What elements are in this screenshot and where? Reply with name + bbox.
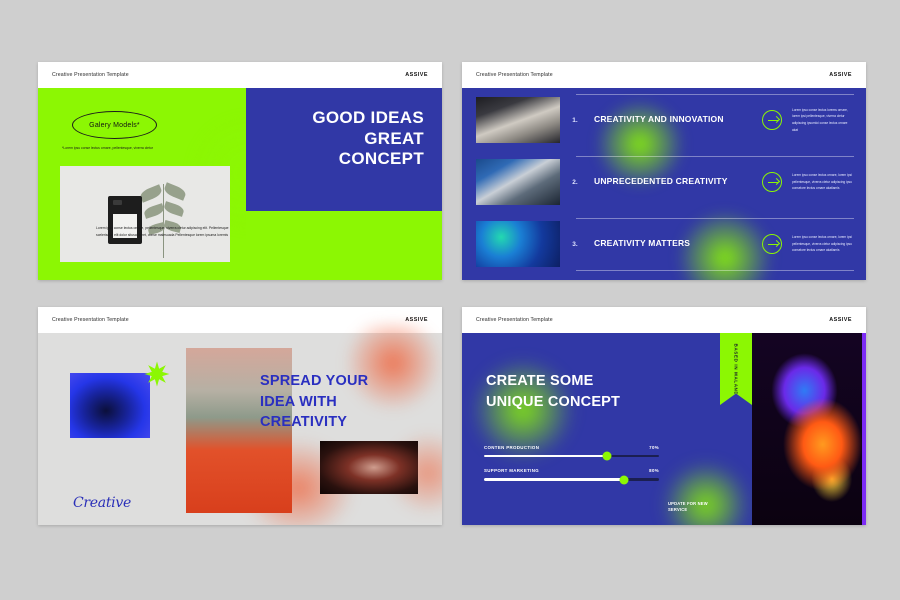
list-item-thumbnail bbox=[476, 221, 560, 267]
title-line: GOOD IDEAS bbox=[56, 108, 424, 129]
progress-bar-fill bbox=[484, 455, 607, 457]
row-divider bbox=[576, 218, 854, 219]
title-line: CREATIVITY bbox=[260, 412, 435, 433]
brand-logo: ASSIVE bbox=[829, 72, 852, 78]
creative-script-word: Creative bbox=[73, 495, 131, 511]
arrow-right-circle-icon[interactable] bbox=[762, 110, 782, 130]
list-item-thumbnail bbox=[476, 159, 560, 205]
slide-header-title: Creative Presentation Template bbox=[52, 72, 129, 78]
list-item-number: 1. bbox=[560, 117, 590, 124]
arrow-right-circle-icon[interactable] bbox=[762, 234, 782, 254]
progress-bar-row[interactable]: SUPPORT MARKETING 80% bbox=[484, 468, 659, 480]
leaf-shape bbox=[143, 203, 165, 219]
slide-create-some-unique-concept[interactable]: Creative Presentation Template ASSIVE CR… bbox=[462, 307, 866, 525]
slide-body: Galery Models* *Lorem ipsu conse lectus … bbox=[38, 88, 442, 280]
list-item-description: Lorem ipsu conse lectus lorems ornare, l… bbox=[782, 107, 854, 133]
presentation-preview-board: Creative Presentation Template ASSIVE Ga… bbox=[0, 0, 900, 600]
update-note: UPDATE FOR NEW SERVICE bbox=[668, 501, 728, 513]
arrow-head bbox=[773, 178, 780, 185]
tag-label: BASED IN MALAND bbox=[734, 343, 739, 395]
list-item[interactable]: 3. CREATIVITY MATTERS Lorem ipsu conse l… bbox=[476, 218, 854, 270]
slide-creativity-list[interactable]: Creative Presentation Template ASSIVE 1.… bbox=[462, 62, 866, 280]
slide-topbar: Creative Presentation Template ASSIVE bbox=[462, 307, 866, 333]
list-item[interactable]: 1. CREATIVITY AND INNOVATION Lorem ipsu … bbox=[476, 94, 854, 146]
slide-header-title: Creative Presentation Template bbox=[476, 72, 553, 78]
purple-edge-stripe bbox=[862, 333, 866, 525]
list-item-description: Lorem ipsu conse lectus ornare, lorem ip… bbox=[782, 172, 854, 192]
list-item-description: Lorem ipsu conse lectus ornare, lorem ip… bbox=[782, 234, 854, 254]
slide-topbar: Creative Presentation Template ASSIVE bbox=[38, 62, 442, 88]
progress-bar-label: CONTEN PRODUCTION bbox=[484, 445, 539, 450]
progress-bar-knob[interactable] bbox=[602, 452, 611, 461]
title-line: SPREAD YOUR bbox=[260, 371, 435, 392]
row-divider bbox=[576, 156, 854, 157]
green-star-burst-icon bbox=[144, 361, 170, 387]
slide-good-ideas-great-concept[interactable]: Creative Presentation Template ASSIVE Ga… bbox=[38, 62, 442, 280]
slide4-title: CREATE SOME UNIQUE CONCEPT bbox=[486, 371, 716, 412]
list-item-number: 3. bbox=[560, 241, 590, 248]
progress-bar-knob[interactable] bbox=[620, 475, 629, 484]
progress-bar-header: SUPPORT MARKETING 80% bbox=[484, 468, 659, 473]
progress-bars-group: CONTEN PRODUCTION 70% SUPPORT MARKETING … bbox=[484, 445, 659, 492]
progress-bar-track[interactable] bbox=[484, 478, 659, 480]
row-divider bbox=[576, 270, 854, 271]
neon-face-portrait-photo bbox=[752, 333, 866, 525]
leaf-shape bbox=[163, 182, 188, 200]
title-line: UNIQUE CONCEPT bbox=[486, 392, 716, 413]
progress-bar-row[interactable]: CONTEN PRODUCTION 70% bbox=[484, 445, 659, 457]
slide-topbar: Creative Presentation Template ASSIVE bbox=[462, 62, 866, 88]
title-line: CONCEPT bbox=[56, 149, 424, 170]
arrow-head bbox=[773, 240, 780, 247]
phone-camera bbox=[113, 200, 122, 205]
slide3-title: SPREAD YOUR IDEA WITH CREATIVITY bbox=[260, 371, 435, 433]
list-item-heading: CREATIVITY AND INNOVATION bbox=[590, 114, 762, 125]
list-item-heading: CREATIVITY MATTERS bbox=[590, 238, 762, 249]
slide1-paragraph: Lorem ipsu conse lectus ornare, pellente… bbox=[96, 225, 246, 239]
slide-body: 1. CREATIVITY AND INNOVATION Lorem ipsu … bbox=[462, 88, 866, 280]
leaf-shape bbox=[139, 184, 164, 202]
title-line: GREAT bbox=[56, 129, 424, 150]
product-photo bbox=[60, 166, 230, 262]
slide-body: CREATE SOME UNIQUE CONCEPT BASED IN MALA… bbox=[462, 333, 866, 525]
brand-logo: ASSIVE bbox=[405, 72, 428, 78]
progress-bar-label: SUPPORT MARKETING bbox=[484, 468, 539, 473]
row-divider bbox=[576, 94, 854, 95]
slide-header-title: Creative Presentation Template bbox=[476, 317, 553, 323]
slide-spread-your-idea[interactable]: Creative Presentation Template ASSIVE SP… bbox=[38, 307, 442, 525]
title-line: CREATE SOME bbox=[486, 371, 716, 392]
list-item[interactable]: 2. UNPRECEDENTED CREATIVITY Lorem ipsu c… bbox=[476, 156, 854, 208]
progress-bar-value: 80% bbox=[649, 468, 659, 473]
progress-bar-track[interactable] bbox=[484, 455, 659, 457]
title-line: IDEA WITH bbox=[260, 392, 435, 413]
arrow-head bbox=[773, 116, 780, 123]
slide1-title: GOOD IDEAS GREAT CONCEPT bbox=[56, 108, 424, 170]
leaf-shape bbox=[163, 201, 185, 217]
brand-logo: ASSIVE bbox=[829, 317, 852, 323]
list-item-number: 2. bbox=[560, 179, 590, 186]
list-item-heading: UNPRECEDENTED CREATIVITY bbox=[590, 176, 762, 187]
green-paragraph-panel bbox=[246, 211, 442, 280]
list-item-thumbnail bbox=[476, 97, 560, 143]
progress-bar-header: CONTEN PRODUCTION 70% bbox=[484, 445, 659, 450]
blue-portrait-photo bbox=[70, 373, 150, 438]
dark-floral-portrait-photo bbox=[320, 441, 418, 494]
arrow-right-circle-icon[interactable] bbox=[762, 172, 782, 192]
progress-bar-fill bbox=[484, 478, 624, 480]
slide-header-title: Creative Presentation Template bbox=[52, 317, 129, 323]
progress-bar-value: 70% bbox=[649, 445, 659, 450]
slide-body: SPREAD YOUR IDEA WITH CREATIVITY Creativ… bbox=[38, 333, 442, 525]
